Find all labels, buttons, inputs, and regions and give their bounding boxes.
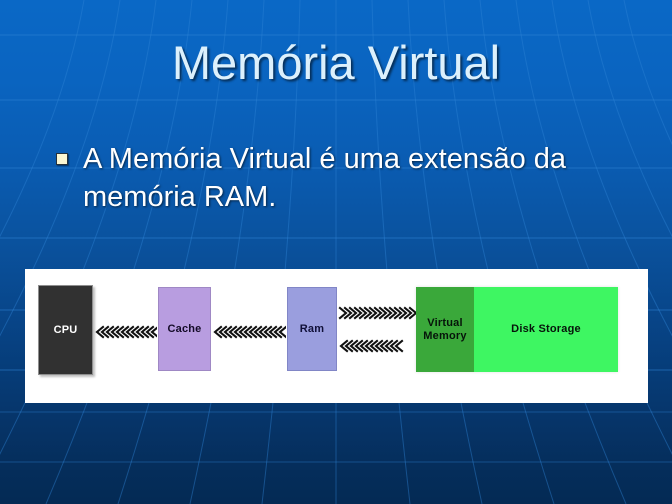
storage-group: Virtual Memory Disk Storage [416,287,618,372]
slide-title: Memória Virtual [0,34,672,92]
connector-ram-to-vm-icon [338,306,416,320]
connector-vm-to-ram-icon [338,339,416,353]
diagram-box-virtual-memory: Virtual Memory [416,287,474,372]
bullet-text: A Memória Virtual é uma extensão da memó… [83,140,636,216]
diagram-box-cpu: CPU [38,285,93,375]
square-bullet-icon [56,153,68,165]
diagram-box-cache: Cache [158,287,211,371]
diagram-box-ram: Ram [287,287,337,371]
bullet-list: A Memória Virtual é uma extensão da memó… [56,140,636,216]
connector-cache-ram-icon [212,325,286,339]
presentation-slide: Memória Virtual A Memória Virtual é uma … [0,0,672,504]
memory-hierarchy-diagram: CPU [25,269,648,403]
diagram-box-disk-storage: Disk Storage [474,287,618,372]
connector-cpu-cache-icon [94,325,157,339]
